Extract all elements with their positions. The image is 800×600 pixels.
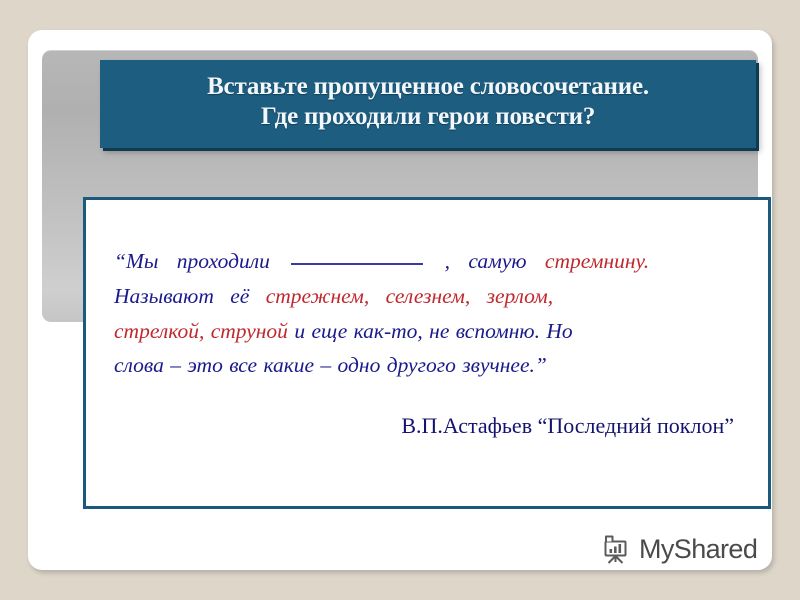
quote-line-3-highlight: стрелкой, струной [114, 319, 288, 343]
fill-in-blank[interactable] [291, 263, 423, 265]
quote-line-2: Называют её стрежнем, селезнем, зерлом, [114, 279, 740, 314]
slide-card: Вставьте пропущенное словосочетание. Где… [28, 30, 772, 570]
quote-line-3: стрелкой, струной и еще как-то, не вспом… [114, 314, 740, 349]
quote-line-2-text-a: Называют её [114, 284, 266, 308]
quote-line-1-text-a: “Мы проходили [114, 249, 270, 273]
quote-text: “Мы проходили , самую стремнину. Называю… [114, 244, 740, 383]
slide-title-banner: Вставьте пропущенное словосочетание. Где… [100, 60, 756, 148]
slide-title-line-2: Где проходили герои повести? [261, 102, 595, 133]
myshared-logo-text: MyShared [639, 534, 757, 565]
quote-line-3-text-b: и еще как-то, не вспомню. Но [294, 319, 572, 343]
quote-line-1-text-b: , самую [445, 249, 545, 273]
flipchart-bar-chart-icon [600, 535, 632, 565]
quote-line-4-text: слова – это все какие – одно другого зву… [114, 353, 547, 377]
quote-line-1: “Мы проходили , самую стремнину. [114, 244, 740, 279]
quote-line-4: слова – это все какие – одно другого зву… [114, 348, 740, 383]
quote-box: “Мы проходили , самую стремнину. Называю… [83, 197, 771, 509]
quote-line-1-highlight: стремнину. [545, 249, 649, 273]
myshared-logo[interactable]: MyShared [600, 534, 757, 565]
slide-title-line-1: Вставьте пропущенное словосочетание. [207, 72, 649, 103]
slide-stage: Вставьте пропущенное словосочетание. Где… [0, 0, 800, 600]
quote-attribution: В.П.Астафьев “Последний поклон” [114, 413, 740, 439]
quote-line-2-highlight: стрежнем, селезнем, зерлом, [266, 284, 553, 308]
